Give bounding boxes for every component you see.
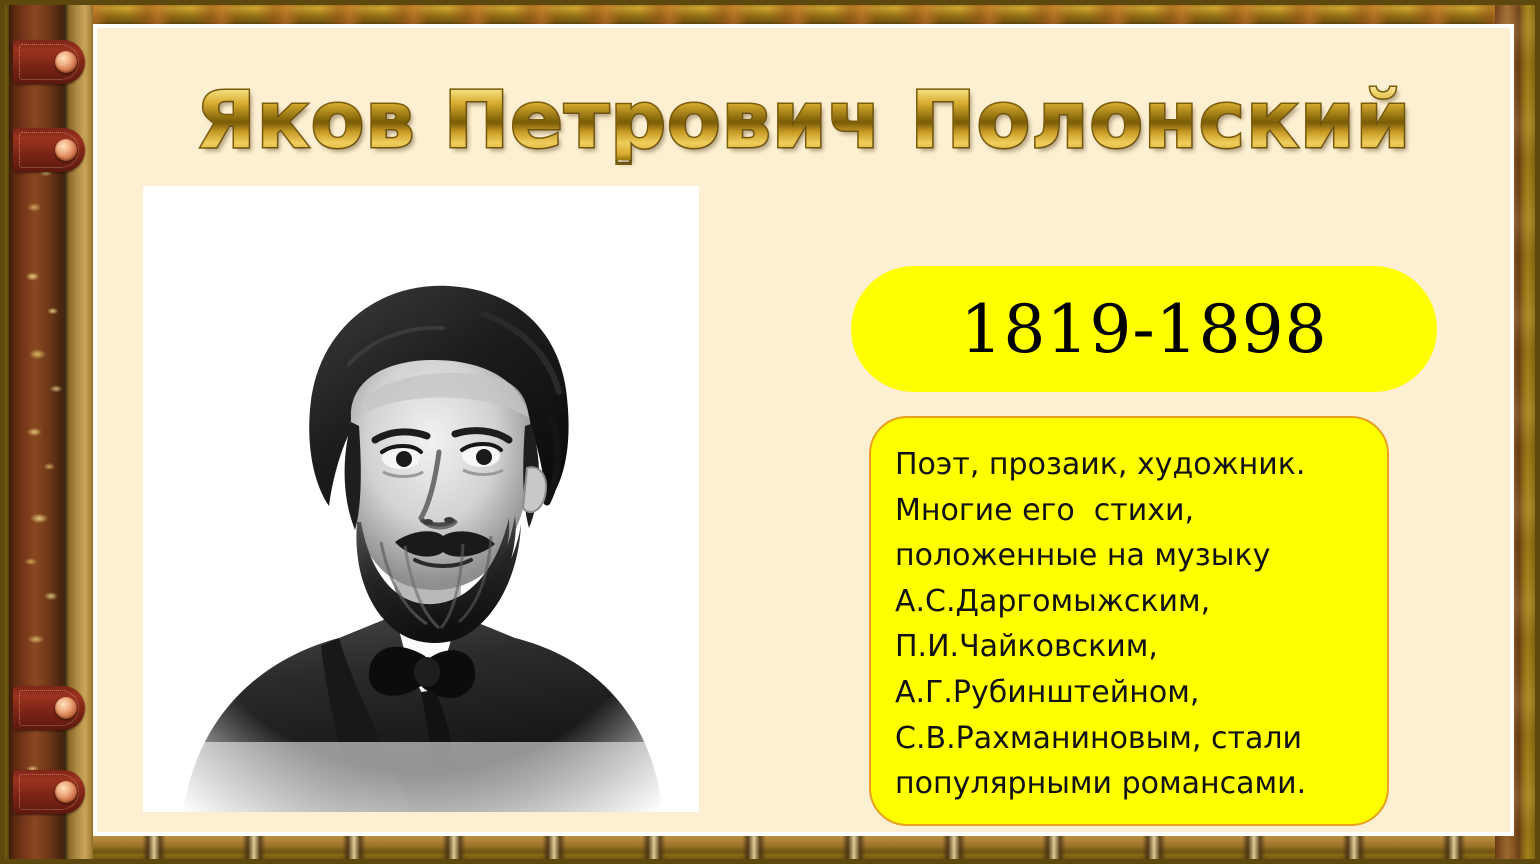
- info-line: П.И.Чайковским,: [895, 624, 1365, 670]
- info-line: Поэт, прозаик, художник.: [895, 442, 1365, 488]
- info-line: популярными романсами.: [895, 761, 1365, 807]
- info-line: А.Г.Рубинштейном,: [895, 670, 1365, 716]
- portrait-image: [143, 186, 699, 812]
- years-badge: 1819-1898: [851, 266, 1437, 392]
- biography-info-box: Поэт, прозаик, художник. Многие его стих…: [869, 416, 1389, 826]
- info-line: положенные на музыку: [895, 533, 1365, 579]
- slide-root: Яков Петрович Полонский Яков Петрович По…: [0, 0, 1540, 864]
- info-line: Многие его стихи,: [895, 488, 1365, 534]
- info-line: А.С.Даргомыжским,: [895, 579, 1365, 625]
- portrait-engraving-svg: [143, 186, 699, 812]
- info-line: С.В.Рахманиновым, стали: [895, 716, 1365, 762]
- slide-content-panel: Яков Петрович Полонский Яков Петрович По…: [97, 28, 1510, 832]
- page-title: Яков Петрович Полонский: [97, 82, 1510, 160]
- years-label: 1819-1898: [960, 291, 1327, 368]
